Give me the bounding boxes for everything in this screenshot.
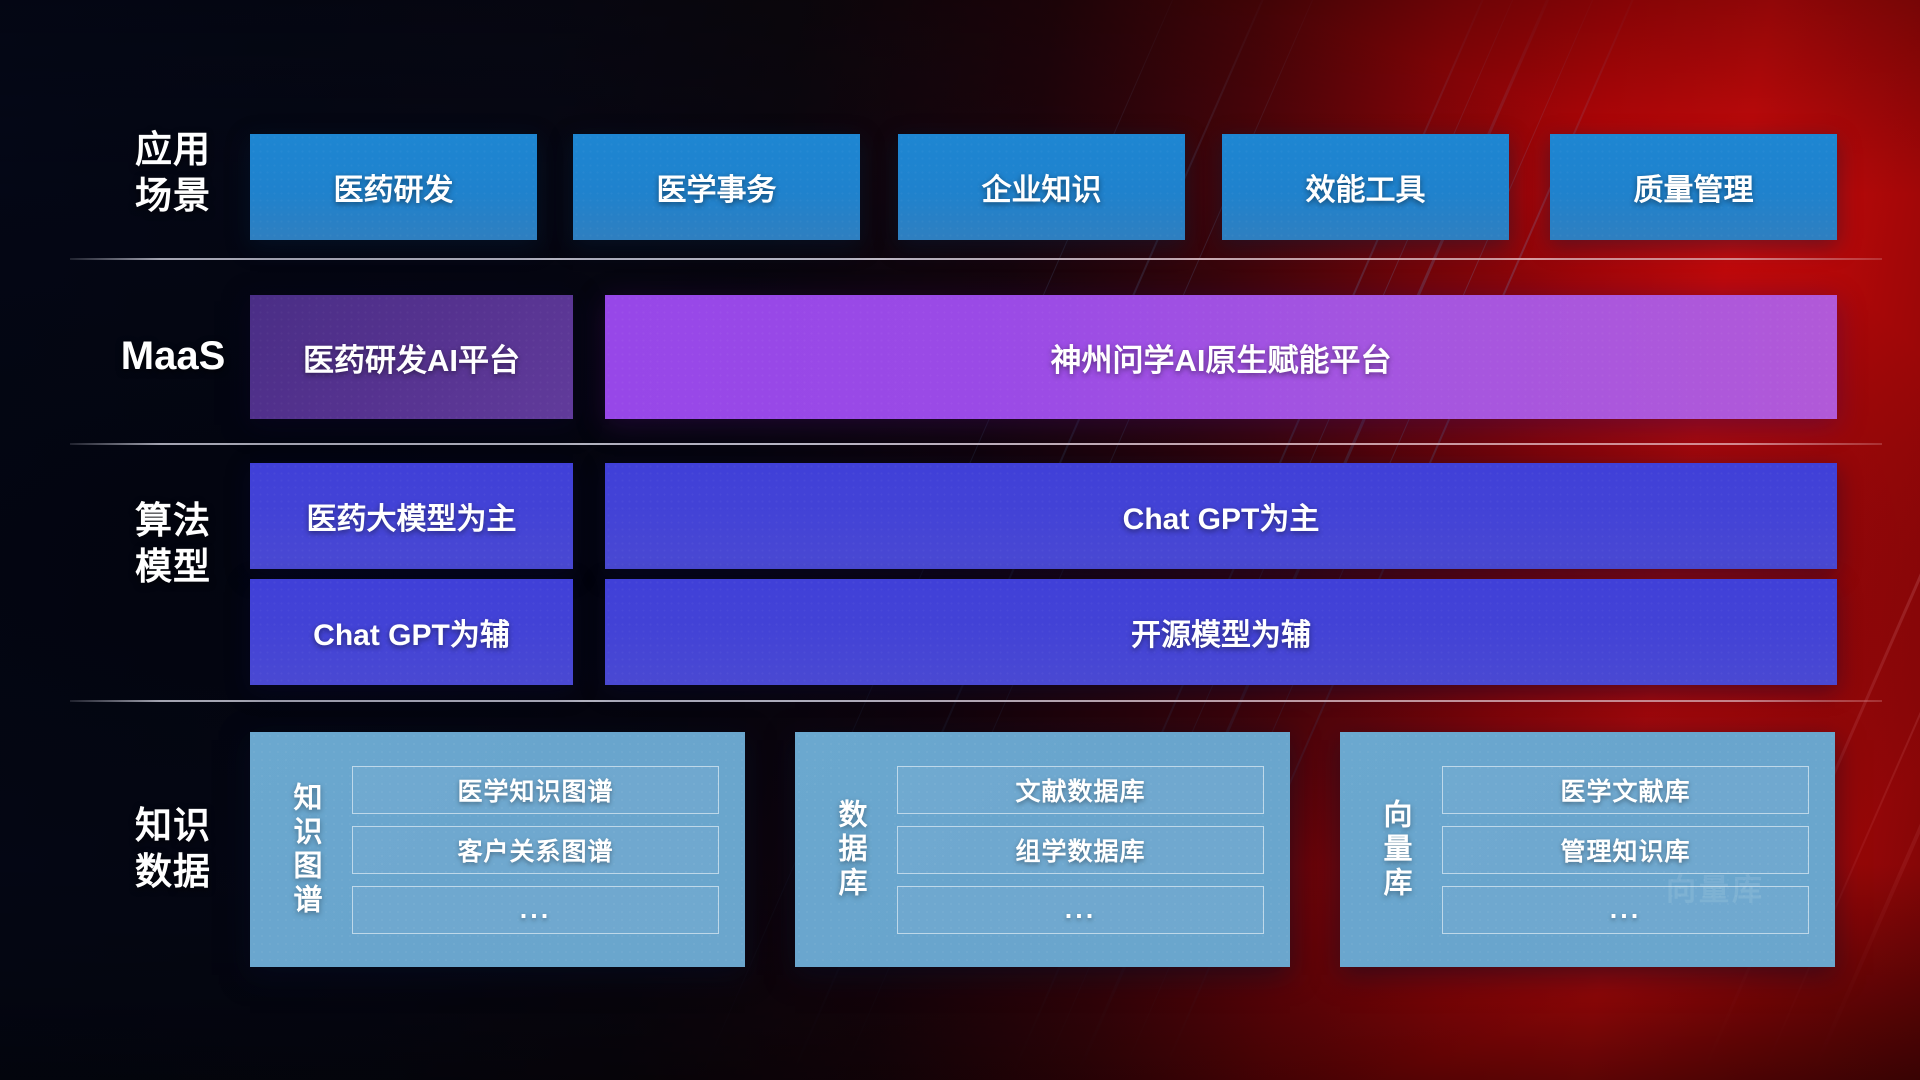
row-label-knowledge: 知识 数据: [88, 803, 258, 895]
divider-maas-algorithm: [70, 443, 1882, 445]
algo-box-row2-right[interactable]: 开源模型为辅: [605, 579, 1837, 685]
row-label-application: 应用 场景: [88, 127, 258, 219]
algo-box-row2-left[interactable]: Chat GPT为辅: [250, 579, 573, 685]
knowledge-panel-graph[interactable]: 知识图谱 医学知识图谱 客户关系图谱 ...: [250, 732, 745, 967]
knowledge-panel-title: 数据库: [813, 732, 887, 967]
knowledge-panel-items: 医学文献库 管理知识库 ...: [1432, 766, 1835, 934]
knowledge-panel-title: 知识图谱: [268, 732, 342, 967]
maas-platform-box-left[interactable]: 医药研发AI平台: [250, 295, 573, 419]
knowledge-item[interactable]: 医学文献库: [1442, 766, 1809, 814]
knowledge-item[interactable]: 文献数据库: [897, 766, 1264, 814]
slide-canvas: 应用 场景 MaaS 算法 模型 知识 数据 医药研发 医学事务 企业知识 效能…: [0, 0, 1920, 1080]
maas-platform-box-right[interactable]: 神州问学AI原生赋能平台: [605, 295, 1837, 419]
algo-box-row1-left[interactable]: 医药大模型为主: [250, 463, 573, 569]
knowledge-item-more[interactable]: ...: [1442, 886, 1809, 934]
knowledge-panel-items: 文献数据库 组学数据库 ...: [887, 766, 1290, 934]
row-label-algorithm: 算法 模型: [88, 498, 258, 590]
knowledge-item[interactable]: 组学数据库: [897, 826, 1264, 874]
app-scenario-box-2[interactable]: 医学事务: [573, 134, 860, 240]
knowledge-item[interactable]: 管理知识库: [1442, 826, 1809, 874]
app-scenario-box-5[interactable]: 质量管理: [1550, 134, 1837, 240]
app-scenario-box-4[interactable]: 效能工具: [1222, 134, 1509, 240]
divider-algorithm-knowledge: [70, 700, 1882, 702]
knowledge-panel-items: 医学知识图谱 客户关系图谱 ...: [342, 766, 745, 934]
knowledge-panel-database[interactable]: 数据库 文献数据库 组学数据库 ...: [795, 732, 1290, 967]
algo-box-row1-right[interactable]: Chat GPT为主: [605, 463, 1837, 569]
knowledge-panel-title: 向量库: [1358, 732, 1432, 967]
knowledge-item[interactable]: 客户关系图谱: [352, 826, 719, 874]
app-scenario-box-3[interactable]: 企业知识: [898, 134, 1185, 240]
knowledge-item[interactable]: 医学知识图谱: [352, 766, 719, 814]
knowledge-item-more[interactable]: ...: [897, 886, 1264, 934]
knowledge-item-more[interactable]: ...: [352, 886, 719, 934]
knowledge-panel-vector[interactable]: 向量库 医学文献库 管理知识库 ... 向量库: [1340, 732, 1835, 967]
divider-application-maas: [70, 258, 1882, 260]
row-label-maas: MaaS: [88, 333, 258, 379]
app-scenario-box-1[interactable]: 医药研发: [250, 134, 537, 240]
